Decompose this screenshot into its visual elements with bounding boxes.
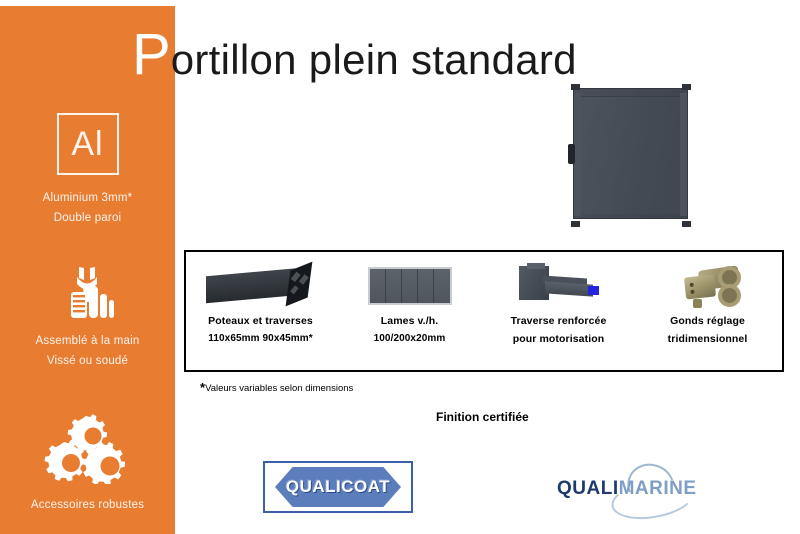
hinge-icon <box>633 260 782 312</box>
footnote: *Valeurs variables selon dimensions <box>200 380 353 395</box>
gate-cap-bottom-right <box>682 221 691 227</box>
slats-panel-icon <box>335 260 484 312</box>
feature-cell-posts: Poteaux et traverses 110x65mm 90x45mm* <box>186 252 335 370</box>
feature-caption-motorisation-2: pour motorisation <box>484 330 633 348</box>
gate-handle-icon <box>568 144 575 164</box>
aluminium-symbol-text: Al <box>71 127 103 161</box>
feature-cell-hinges: Gonds réglage tridimensionnel <box>633 252 782 370</box>
gate-cap-top-left <box>571 84 580 90</box>
sidebar-item-aluminium: Al Aluminium 3mm* Double paroi <box>0 113 175 228</box>
sidebar-label-aluminium-2: Double paroi <box>0 208 175 228</box>
gate-frame <box>573 88 688 219</box>
sidebar-item-accessories: Accessoires robustes <box>0 412 175 515</box>
feature-caption-hinges-2: tridimensionnel <box>633 330 782 348</box>
feature-specs-box: Poteaux et traverses 110x65mm 90x45mm* L… <box>184 250 784 372</box>
gate-cap-bottom-left <box>571 221 580 227</box>
gate-post-left <box>574 93 581 216</box>
qualicoat-logo: QUALICOAT <box>263 461 413 513</box>
sidebar-item-assembly: Assemblé à la main Vissé ou soudé <box>0 264 175 371</box>
product-photo <box>566 82 696 227</box>
qualimarine-logo-text-a: QUALI <box>557 478 619 499</box>
feature-caption-motorisation-1: Traverse renforcée <box>484 312 633 330</box>
qualimarine-logo-text-b: MARINE <box>619 478 697 499</box>
page-title-remainder: ortillon plein standard <box>171 36 577 83</box>
page-title: Portillon plein standard <box>132 24 577 86</box>
qualimarine-logo: QUALIMARINE <box>557 468 707 510</box>
feature-cell-slats: Lames v./h. 100/200x20mm <box>335 252 484 370</box>
feature-caption-posts-2: 110x65mm 90x45mm* <box>186 330 335 348</box>
feature-caption-posts-1: Poteaux et traverses <box>186 312 335 330</box>
motorisation-rail-icon <box>484 260 633 312</box>
gears-icon <box>40 412 136 484</box>
sidebar-label-aluminium-1: Aluminium 3mm* <box>0 188 175 208</box>
qualicoat-logo-text: QUALICOAT <box>286 477 390 497</box>
hand-wrench-icon <box>57 264 119 322</box>
sidebar-label-assembly-2: Vissé ou soudé <box>0 351 175 371</box>
sidebar-label-assembly-1: Assemblé à la main <box>0 331 175 351</box>
sidebar-label-accessories-1: Accessoires robustes <box>0 495 175 515</box>
feature-caption-hinges-1: Gonds réglage <box>633 312 782 330</box>
feature-caption-slats-2: 100/200x20mm <box>335 330 484 348</box>
aluminium-square-icon: Al <box>57 113 119 175</box>
product-datasheet-page: Al Aluminium 3mm* Double paroi <box>0 0 800 534</box>
gate-post-right <box>680 93 687 216</box>
aluminium-profile-icon <box>186 260 335 312</box>
gate-panel <box>579 96 682 214</box>
gate-cap-top-right <box>682 84 691 90</box>
feature-cell-motorisation: Traverse renforcée pour motorisation <box>484 252 633 370</box>
feature-caption-slats-1: Lames v./h. <box>335 312 484 330</box>
finition-certifiee-label: Finition certifiée <box>436 410 529 424</box>
footnote-text: Valeurs variables selon dimensions <box>205 383 353 394</box>
page-title-initial: P <box>132 22 171 87</box>
